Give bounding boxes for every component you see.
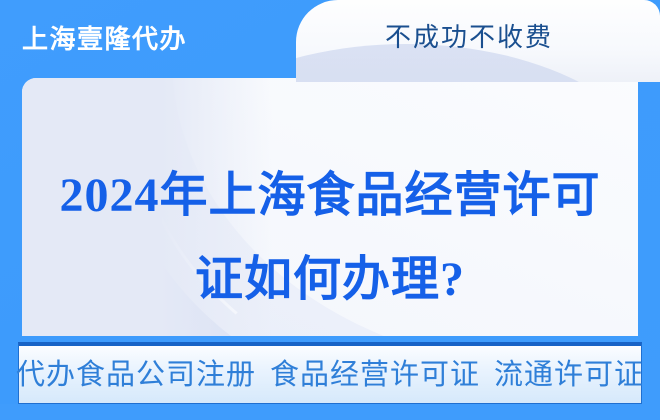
- main-panel: 2024年上海食品经营许可 证如何办理?: [22, 78, 638, 336]
- headline: 2024年上海食品经营许可 证如何办理?: [22, 154, 638, 322]
- keyword-item[interactable]: 代办食品公司注册: [16, 358, 256, 392]
- keyword-item[interactable]: 流通许可证: [494, 358, 644, 392]
- keyword-bar: 代办食品公司注册 食品经营许可证 流通许可证: [18, 342, 642, 404]
- headline-line-1: 2024年上海食品经营许可: [59, 169, 600, 222]
- bottom-frame-strip: [0, 404, 660, 420]
- header-slogan: 不成功不收费: [296, 18, 642, 56]
- keyword-item[interactable]: 食品经营许可证: [270, 358, 480, 392]
- headline-line-2: 证如何办理?: [22, 238, 638, 322]
- promo-banner: 上海壹隆代办 不成功不收费 2024年上海食品经营许可 证如何办理? 代办食品公…: [0, 0, 660, 420]
- keyword-list: 代办食品公司注册 食品经营许可证 流通许可证: [19, 346, 641, 403]
